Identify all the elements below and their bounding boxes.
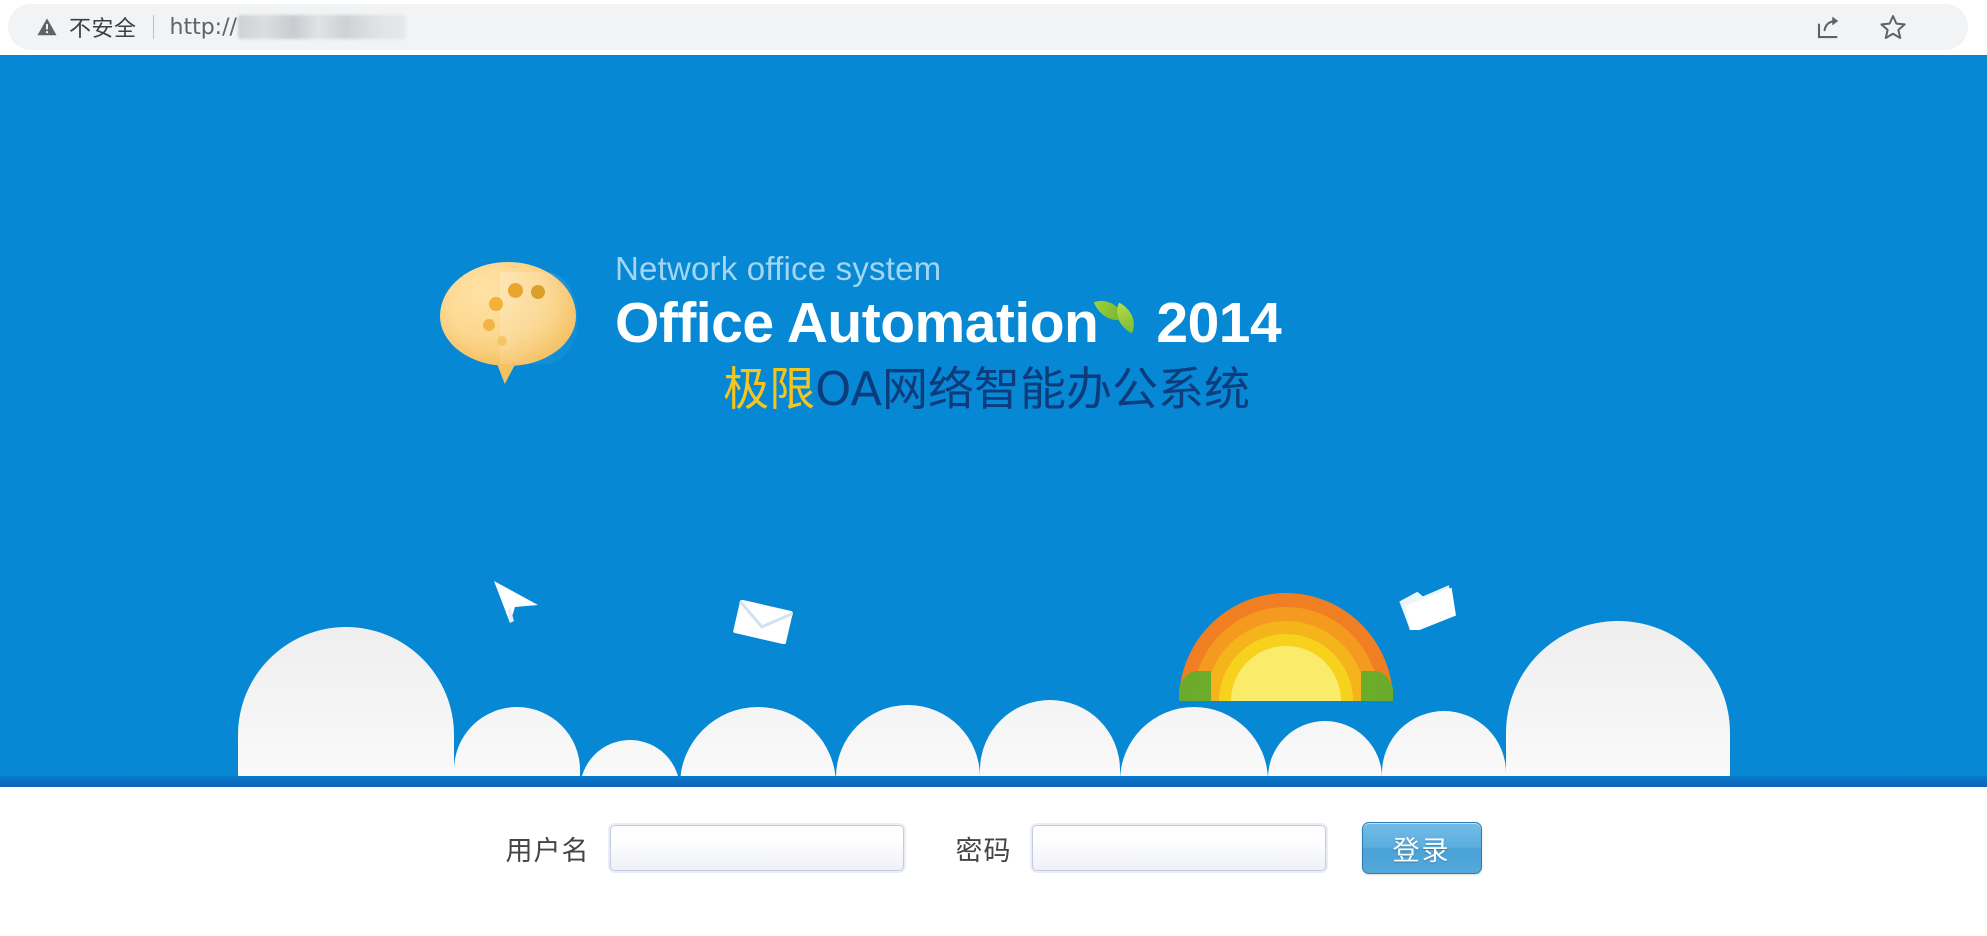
cloud-silhouette — [0, 585, 1987, 787]
address-bar[interactable]: 不安全 http:// — [8, 4, 1968, 50]
brand-tagline: Network office system — [615, 250, 1255, 288]
speech-bubble-logo — [440, 262, 576, 372]
share-icon[interactable] — [1814, 12, 1844, 42]
brand-text-group: Network office system Office Automation … — [615, 250, 1255, 417]
password-input[interactable] — [1032, 825, 1326, 871]
bubble-dot — [497, 336, 507, 346]
omnibox-divider — [153, 15, 154, 39]
login-submit-button[interactable]: 登录 — [1362, 822, 1482, 874]
bubble-dot — [531, 285, 545, 299]
brand-year: 2014 — [1156, 291, 1281, 355]
security-status-label: 不安全 — [69, 11, 137, 43]
brand-title: Office Automation — [615, 291, 1098, 355]
brand-subtitle: 极限OA网络智能办公系统 — [615, 361, 1255, 417]
bubble-dot — [508, 283, 523, 298]
address-bar-content: 不安全 http:// — [36, 4, 406, 50]
bubble-dot — [483, 319, 495, 331]
brand-subtitle-navy: OA网络智能办公系统 — [815, 362, 1250, 416]
brand-subtitle-gold: 极限 — [723, 362, 815, 416]
omnibox-actions — [1814, 4, 1908, 50]
browser-chrome: 不安全 http:// — [0, 0, 1987, 55]
brand-logo-block: Network office system Office Automation … — [440, 250, 1260, 450]
green-leaf-icon — [1096, 295, 1142, 341]
star-outline-icon[interactable] — [1878, 12, 1908, 42]
url-scheme-text: http:// — [170, 15, 237, 40]
bubble-dot — [518, 341, 527, 350]
login-form: 用户名 密码 登录 — [0, 815, 1987, 881]
brand-title-row: Office Automation 2014 — [615, 291, 1255, 355]
password-label: 密码 — [956, 829, 1012, 868]
login-form-bar: 用户名 密码 登录 — [0, 787, 1987, 936]
username-input[interactable] — [610, 825, 904, 871]
bubble-dot — [489, 297, 503, 311]
hero-banner: Network office system Office Automation … — [0, 55, 1987, 787]
username-label: 用户名 — [506, 829, 590, 868]
login-page: Network office system Office Automation … — [0, 55, 1987, 936]
url-redacted-blur — [238, 15, 406, 39]
warning-triangle-icon — [36, 16, 58, 38]
hero-bottom-edge — [0, 776, 1987, 787]
